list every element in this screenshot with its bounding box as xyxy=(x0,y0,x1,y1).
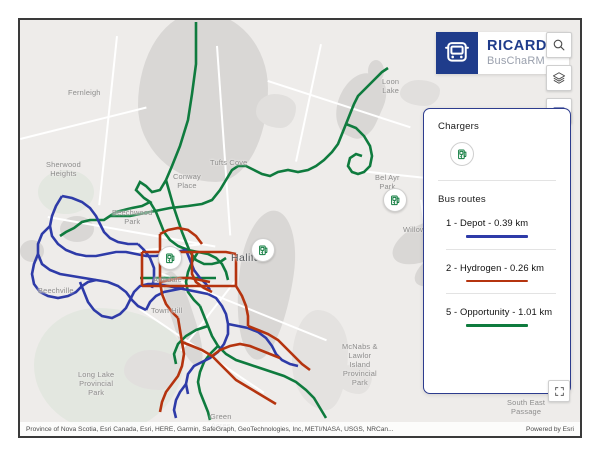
map-label: Town Hill xyxy=(151,306,182,315)
map-label: Beechwood Park xyxy=(112,208,152,226)
charger-marker-beechwood[interactable] xyxy=(158,246,182,270)
legend-chargers-title: Chargers xyxy=(438,121,556,132)
expand-control[interactable] xyxy=(548,380,570,402)
map-label: Beechville xyxy=(38,286,74,295)
legend-route-label: 5 - Opportunity - 1.01 km xyxy=(446,306,556,317)
route-line-hydrogen-b xyxy=(142,252,236,254)
terrain-patch-1 xyxy=(400,80,440,106)
road-6 xyxy=(295,44,322,162)
road-3 xyxy=(98,36,118,205)
search-icon xyxy=(552,38,566,52)
road-1 xyxy=(20,107,147,140)
legend-route-label: 1 - Depot - 0.39 km xyxy=(446,217,556,228)
legend-routes-title: Bus routes xyxy=(438,194,556,205)
map-label: Armdale xyxy=(153,275,182,284)
legend-route-divider xyxy=(446,249,556,250)
legend-route-swatch xyxy=(466,280,528,283)
layers-control[interactable] xyxy=(546,65,572,91)
expand-icon xyxy=(554,386,565,397)
water-body-bedford-basin xyxy=(138,20,268,182)
legend-route-swatch xyxy=(466,235,528,238)
charger-marker-halifax[interactable] xyxy=(251,238,275,262)
map-widget-frame: FernleighSherwood HeightsBeechwood ParkC… xyxy=(18,18,582,438)
map-label: Long Lake Provincial Park xyxy=(78,370,114,397)
map-label: McNabs & Lawlor Island Provincial Park xyxy=(342,342,378,387)
route-line-depot-c xyxy=(38,226,146,310)
layers-icon xyxy=(552,71,566,85)
legend-route-label: 2 - Hydrogen - 0.26 km xyxy=(446,262,556,273)
map-label: Tufts Cove xyxy=(210,158,247,167)
legend-route-item[interactable]: 2 - Hydrogen - 0.26 km xyxy=(438,262,556,283)
search-control[interactable] xyxy=(546,32,572,58)
map-label: Conway Place xyxy=(173,172,201,190)
map-canvas[interactable]: FernleighSherwood HeightsBeechwood ParkC… xyxy=(20,20,580,436)
legend-route-item[interactable]: 1 - Depot - 0.39 km xyxy=(438,217,556,238)
map-label: South East Passage xyxy=(507,398,545,416)
ev-charger-icon xyxy=(450,142,474,166)
legend-route-divider xyxy=(446,293,556,294)
map-label: Fernleigh xyxy=(68,88,101,97)
water-body-harbour xyxy=(228,207,302,363)
terrain-patch-4 xyxy=(256,94,296,128)
water-body-lake-f xyxy=(20,240,44,262)
map-label: Sherwood Heights xyxy=(46,160,81,178)
legend-route-item[interactable]: 5 - Opportunity - 1.01 km xyxy=(438,306,556,327)
legend-route-swatch xyxy=(466,324,528,327)
legend-divider xyxy=(438,180,556,181)
charger-marker-bel-ayr[interactable] xyxy=(383,188,407,212)
attribution-sources: Province of Nova Scotia, Esri Canada, Es… xyxy=(26,426,394,433)
bus-icon xyxy=(436,32,478,74)
legend-routes-list: 1 - Depot - 0.39 km2 - Hydrogen - 0.26 k… xyxy=(438,217,556,327)
island-mcnabs xyxy=(292,310,348,410)
legend-panel: Chargers Bus routes 1 - Depot - 0.39 km2… xyxy=(423,108,571,394)
attribution-powered-by: Powered by Esri xyxy=(526,426,574,433)
map-label: Loon Lake xyxy=(382,77,399,95)
map-attribution: Province of Nova Scotia, Esri Canada, Es… xyxy=(20,422,580,436)
